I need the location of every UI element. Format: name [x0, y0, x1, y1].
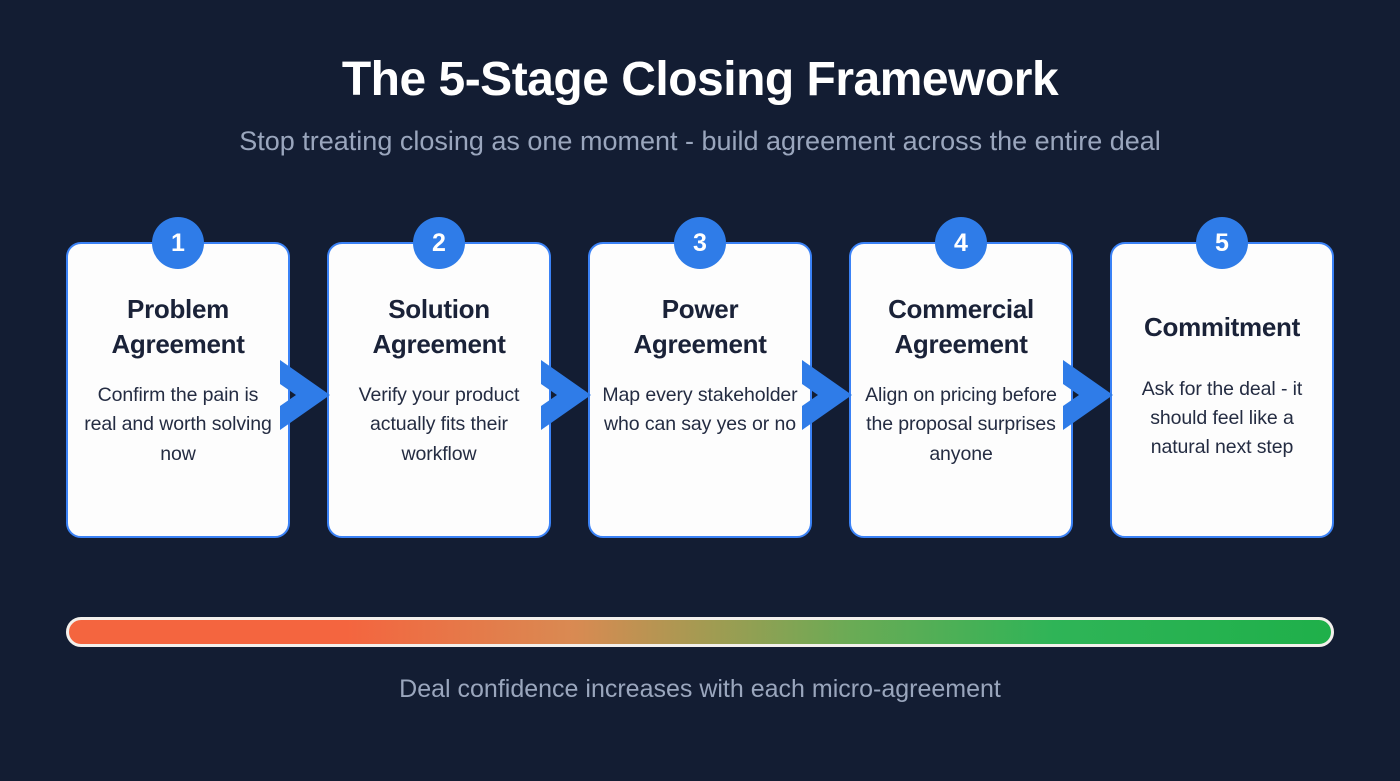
- stage-card-4[interactable]: 4 Commercial Agreement Align on pricing …: [849, 242, 1073, 538]
- confidence-gradient-bar: [66, 617, 1334, 647]
- stage-card-2[interactable]: 2 Solution Agreement Verify your product…: [327, 242, 551, 538]
- stage-description-2: Verify your product actually fits their …: [341, 381, 537, 469]
- stage-number-badge-5: 5: [1196, 217, 1248, 269]
- stage-title-3: Power Agreement: [602, 292, 798, 361]
- stage-number-badge-1: 1: [152, 217, 204, 269]
- stage-card-3[interactable]: 3 Power Agreement Map every stakeholder …: [588, 242, 812, 538]
- page-subtitle: Stop treating closing as one moment - bu…: [0, 125, 1400, 157]
- stage-description-1: Confirm the pain is real and worth solvi…: [80, 381, 276, 469]
- infographic-root: The 5-Stage Closing Framework Stop treat…: [0, 0, 1400, 781]
- stage-number-badge-2: 2: [413, 217, 465, 269]
- stage-title-1: Problem Agreement: [80, 292, 276, 361]
- stage-description-4: Align on pricing before the proposal sur…: [863, 381, 1059, 469]
- stage-description-3: Map every stakeholder who can say yes or…: [602, 381, 798, 440]
- stage-row: 1 Problem Agreement Confirm the pain is …: [66, 242, 1334, 538]
- header: The 5-Stage Closing Framework Stop treat…: [0, 52, 1400, 157]
- stage-title-5: Commitment: [1144, 310, 1300, 345]
- stage-title-2: Solution Agreement: [341, 292, 537, 361]
- page-title: The 5-Stage Closing Framework: [0, 52, 1400, 109]
- stage-number-badge-4: 4: [935, 217, 987, 269]
- stage-title-4: Commercial Agreement: [863, 292, 1059, 361]
- stage-card-1[interactable]: 1 Problem Agreement Confirm the pain is …: [66, 242, 290, 538]
- stage-description-5: Ask for the deal - it should feel like a…: [1124, 375, 1320, 463]
- stage-number-badge-3: 3: [674, 217, 726, 269]
- stage-card-5[interactable]: 5 Commitment Ask for the deal - it shoul…: [1110, 242, 1334, 538]
- confidence-caption: Deal confidence increases with each micr…: [0, 674, 1400, 704]
